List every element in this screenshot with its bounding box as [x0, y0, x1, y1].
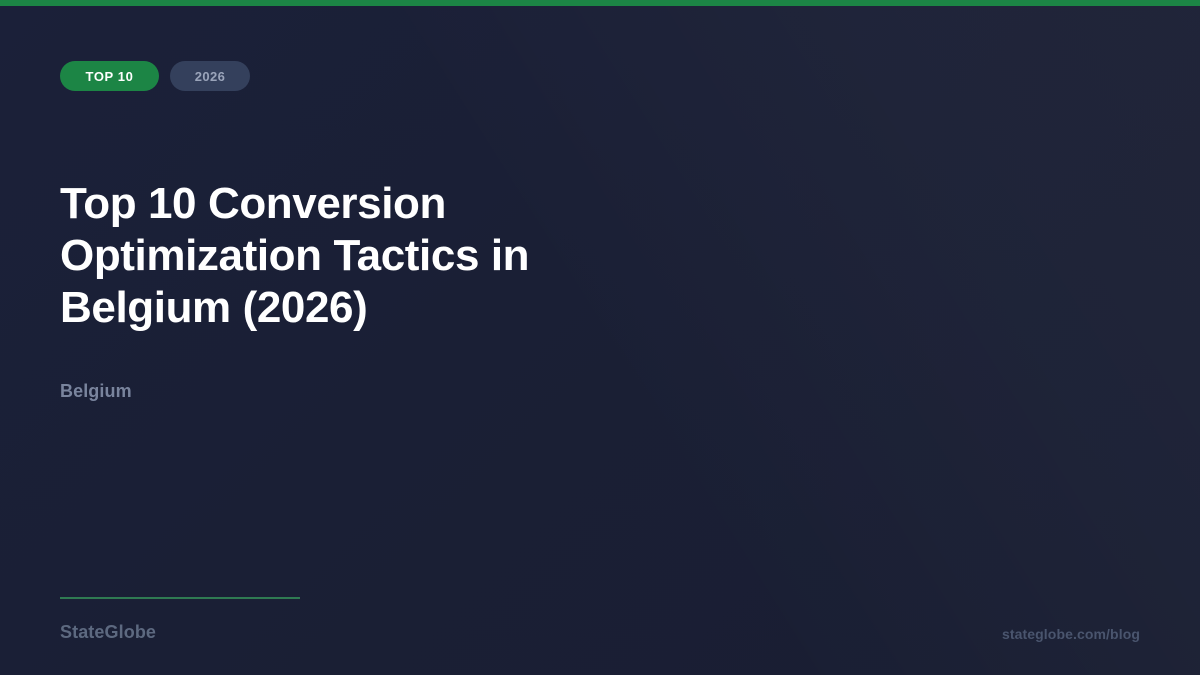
footer-brand: StateGlobe — [60, 622, 156, 643]
background-sheen — [0, 0, 1200, 675]
badge-year[interactable]: 2026 — [170, 61, 250, 91]
footer-url[interactable]: stateglobe.com/blog — [1002, 626, 1140, 642]
badge-top-10[interactable]: TOP 10 — [60, 61, 159, 91]
page-subtitle: Belgium — [60, 381, 132, 402]
page-title: Top 10 Conversion Optimization Tactics i… — [60, 178, 680, 334]
badge-group: TOP 10 2026 — [60, 61, 250, 91]
hero-card: TOP 10 2026 Top 10 Conversion Optimizati… — [0, 0, 1200, 675]
top-accent-bar — [0, 0, 1200, 6]
footer-divider — [60, 597, 300, 599]
